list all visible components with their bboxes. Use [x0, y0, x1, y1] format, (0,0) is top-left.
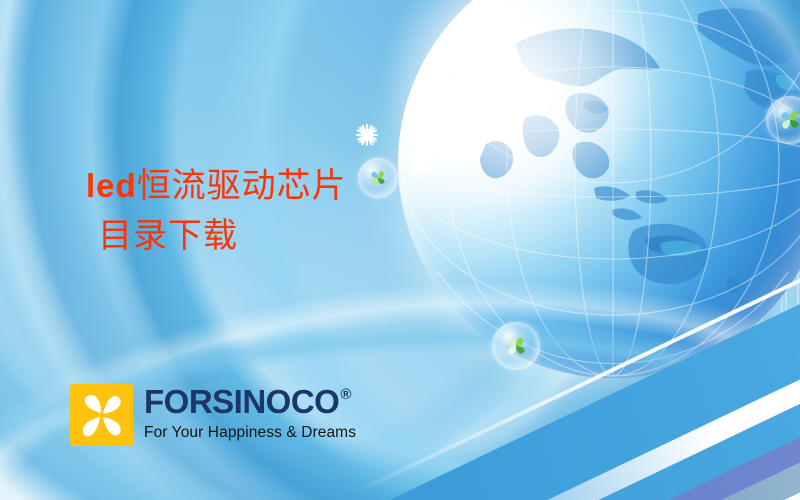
brand-word: FORSINOCO — [144, 385, 339, 418]
pinwheel-bubble — [492, 322, 540, 370]
banner-image: led恒流驱动芯片 目录下载 FORSINOCO® For Your Happi… — [0, 0, 800, 500]
asterisk-sparkle-icon — [356, 124, 378, 151]
registered-mark: ® — [340, 387, 351, 402]
headline: led恒流驱动芯片 目录下载 — [86, 162, 416, 261]
headline-latin: led — [86, 167, 137, 204]
brand-name: FORSINOCO® — [144, 385, 356, 418]
company-logo[interactable]: FORSINOCO® For Your Happiness & Dreams — [70, 384, 356, 446]
pinwheel-icon — [503, 333, 529, 359]
pinwheel-icon — [777, 107, 800, 133]
headline-line-1: led恒流驱动芯片 — [86, 162, 416, 212]
brand-tagline: For Your Happiness & Dreams — [144, 425, 356, 441]
headline-cjk: 恒流驱动芯片 — [137, 168, 347, 205]
pinwheel-flower-icon — [70, 384, 133, 446]
headline-line-2: 目录下载 — [86, 212, 416, 262]
